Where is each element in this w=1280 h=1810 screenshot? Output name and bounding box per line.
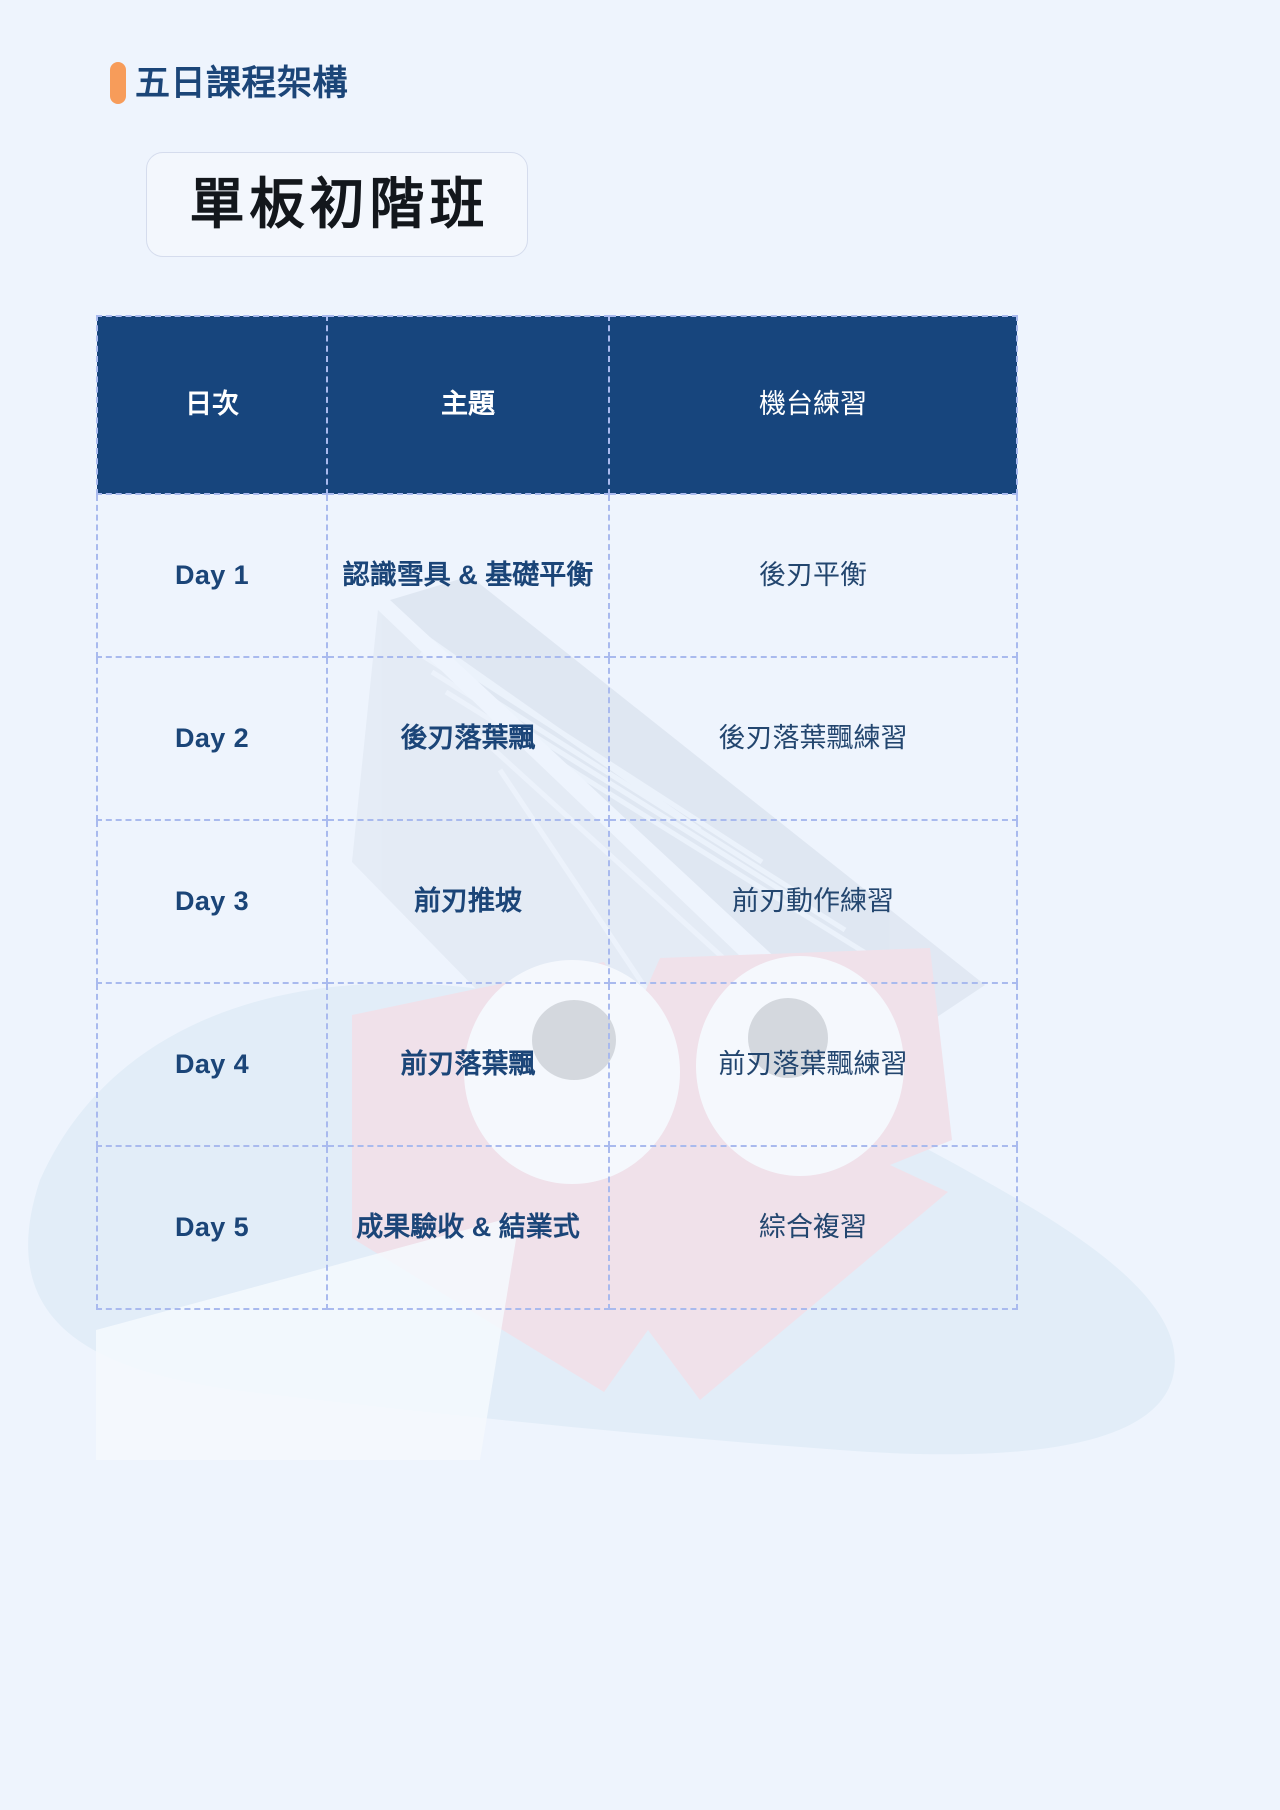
cell-topic: 成果驗收 & 結業式 [327, 1146, 609, 1309]
table-row: Day 5 成果驗收 & 結業式 綜合複習 [97, 1146, 1017, 1309]
cell-day: Day 3 [97, 820, 327, 983]
page-root: 五日課程架構 單板初階班 日次 主題 機台練習 Day 1 認識雪具 & 基礎平… [0, 0, 1280, 1810]
schedule-table-wrapper: 日次 主題 機台練習 Day 1 認識雪具 & 基礎平衡 後刃平衡 Day 2 … [96, 315, 1016, 1310]
cell-practice: 後刃平衡 [609, 494, 1017, 657]
table-row: Day 2 後刃落葉飄 後刃落葉飄練習 [97, 657, 1017, 820]
cell-topic: 後刃落葉飄 [327, 657, 609, 820]
table-row: Day 4 前刃落葉飄 前刃落葉飄練習 [97, 983, 1017, 1146]
cell-practice: 前刃落葉飄練習 [609, 983, 1017, 1146]
cell-topic: 前刃推坡 [327, 820, 609, 983]
column-header-topic: 主題 [327, 316, 609, 494]
cell-practice: 綜合複習 [609, 1146, 1017, 1309]
cell-day: Day 1 [97, 494, 327, 657]
section-heading: 五日課程架構 [110, 62, 348, 104]
table-head: 日次 主題 機台練習 [97, 316, 1017, 494]
accent-pill-icon [110, 62, 126, 104]
cell-day: Day 4 [97, 983, 327, 1146]
table-row: Day 3 前刃推坡 前刃動作練習 [97, 820, 1017, 983]
class-badge: 單板初階班 [146, 152, 528, 257]
cell-topic: 認識雪具 & 基礎平衡 [327, 494, 609, 657]
table-row: Day 1 認識雪具 & 基礎平衡 後刃平衡 [97, 494, 1017, 657]
cell-day: Day 2 [97, 657, 327, 820]
cell-practice: 後刃落葉飄練習 [609, 657, 1017, 820]
table-body: Day 1 認識雪具 & 基礎平衡 後刃平衡 Day 2 後刃落葉飄 後刃落葉飄… [97, 494, 1017, 1309]
cell-day: Day 5 [97, 1146, 327, 1309]
cell-topic: 前刃落葉飄 [327, 983, 609, 1146]
class-badge-label: 單板初階班 [184, 177, 489, 232]
column-header-day: 日次 [97, 316, 327, 494]
table-header-row: 日次 主題 機台練習 [97, 316, 1017, 494]
page-title: 五日課程架構 [135, 66, 348, 101]
schedule-table: 日次 主題 機台練習 Day 1 認識雪具 & 基礎平衡 後刃平衡 Day 2 … [96, 315, 1018, 1310]
cell-practice: 前刃動作練習 [609, 820, 1017, 983]
column-header-practice: 機台練習 [609, 316, 1017, 494]
